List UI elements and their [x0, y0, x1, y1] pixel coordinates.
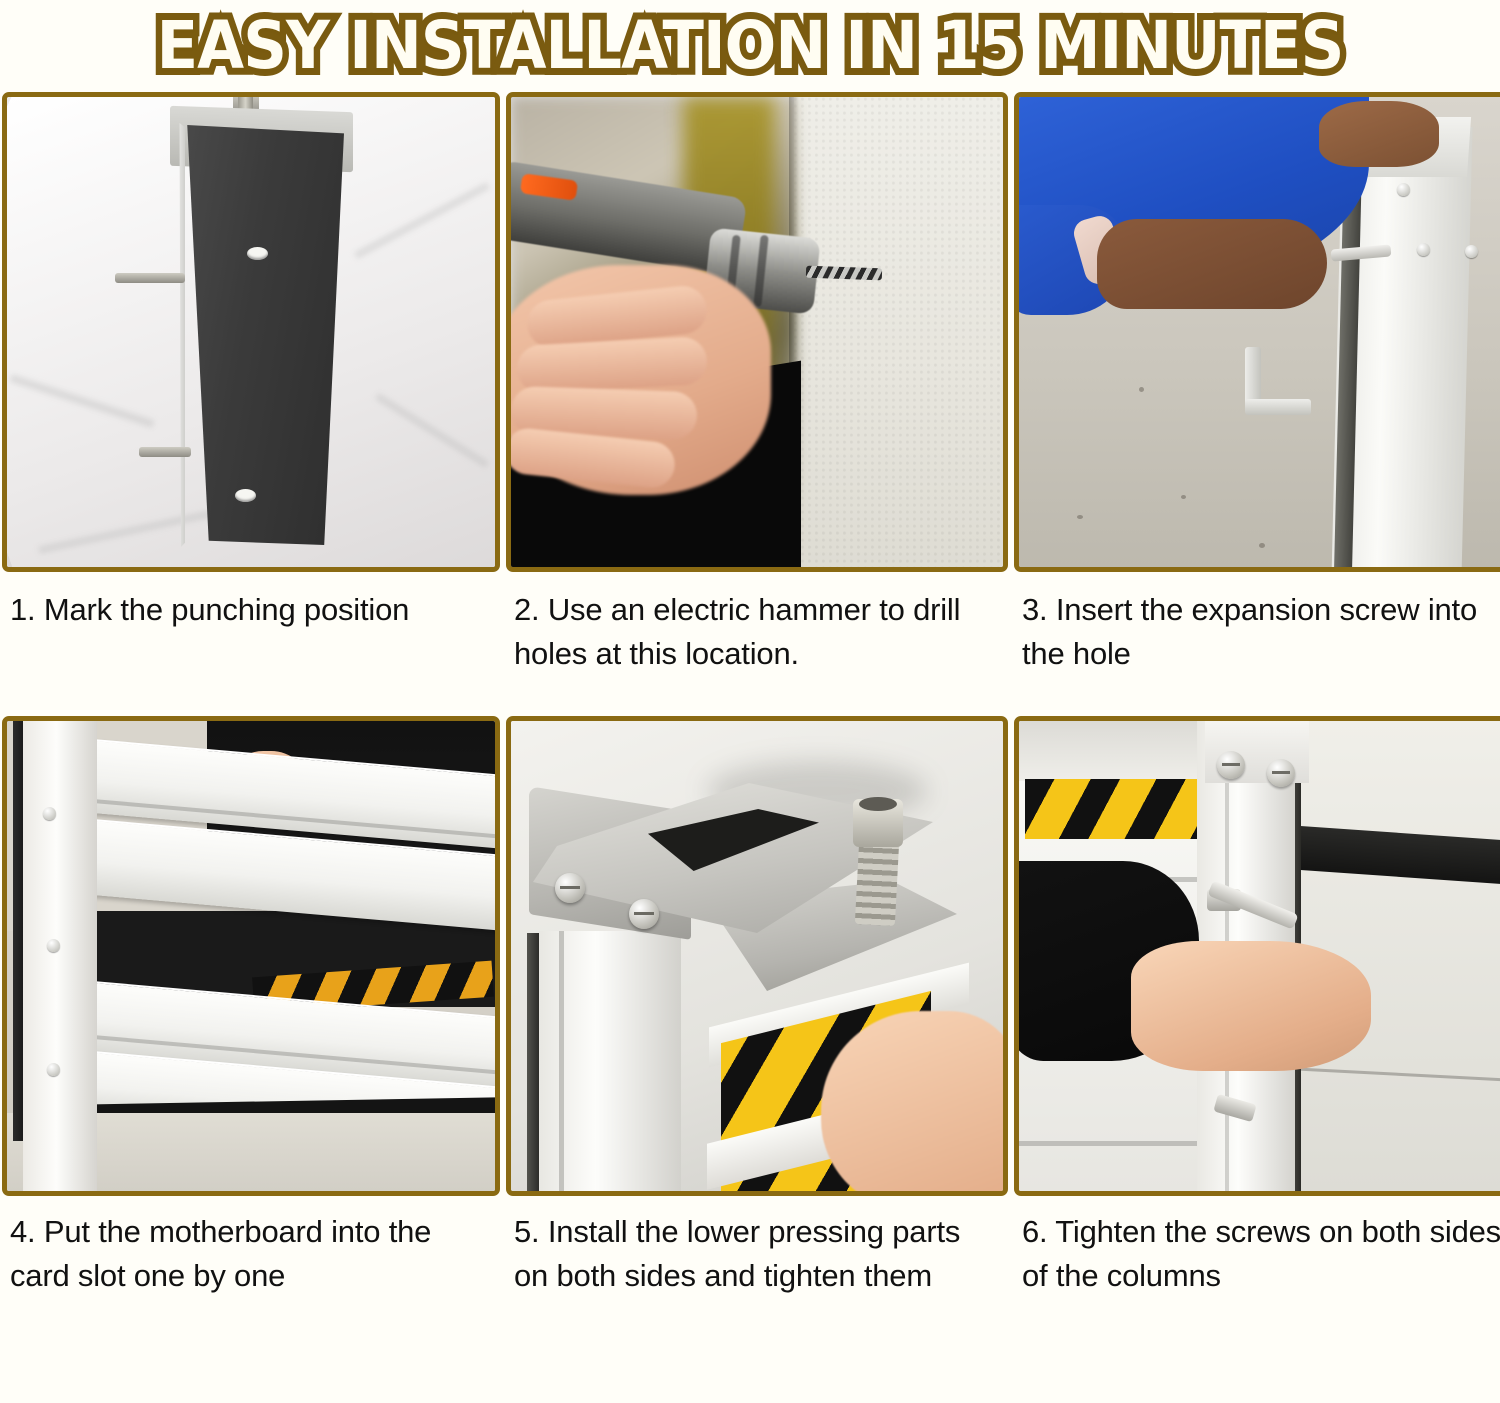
punch-mark-hole-upper [247, 247, 268, 260]
column-dark-edge [527, 933, 539, 1196]
step-5-photo [506, 716, 1008, 1196]
thumb-bolt-socket [859, 797, 897, 811]
white-column [23, 721, 97, 1191]
punch-mark-hole-lower [235, 489, 256, 502]
top-screw-right [1267, 759, 1295, 787]
step-6-photo [1014, 716, 1500, 1196]
step-3-photo [1014, 92, 1500, 572]
step-card-1: 1. Mark the punching position [2, 92, 500, 692]
board-groove [1019, 1141, 1205, 1146]
step-2-photo [506, 92, 1008, 572]
column-screw [1465, 245, 1478, 258]
hazard-stripe-tape [1025, 779, 1203, 839]
worker-forearm [1097, 219, 1327, 309]
step-1-caption: 1. Mark the punching position [2, 572, 500, 692]
step-1-photo [2, 92, 500, 572]
floor-speck [1259, 543, 1265, 548]
column-screw [47, 939, 60, 952]
step-card-5: 5. Install the lower pressing parts on b… [506, 716, 1008, 1314]
hand-tightening-screw [1131, 941, 1371, 1071]
allen-wrench-arm [1245, 399, 1311, 415]
column-groove [559, 931, 564, 1196]
step-2-caption: 2. Use an electric hammer to drill holes… [506, 572, 1008, 692]
floor-speck [1181, 495, 1186, 499]
step-6-caption: 6. Tighten the screws on both sides of t… [1014, 1196, 1500, 1314]
bracket-screw-right [629, 899, 659, 929]
finger [516, 336, 708, 394]
step-card-4: 4. Put the motherboard into the card slo… [2, 716, 500, 1314]
alignment-pin-upper [115, 273, 185, 283]
steps-row-top: 1. Mark the punching position [0, 92, 1500, 692]
column-screw [43, 807, 56, 820]
step-card-3: 3. Insert the expansion screw into the h… [1014, 92, 1500, 692]
step-card-2: 2. Use an electric hammer to drill holes… [506, 92, 1008, 692]
step-4-caption: 4. Put the motherboard into the card slo… [2, 1196, 500, 1314]
worker-upper-hand [1319, 101, 1439, 167]
step-4-photo [2, 716, 500, 1196]
bracket-screw-left [555, 873, 585, 903]
step-card-6: 6. Tighten the screws on both sides of t… [1014, 716, 1500, 1314]
top-screw-left [1217, 751, 1245, 779]
floor-speck [1077, 515, 1083, 519]
floor-speck [1139, 387, 1144, 392]
alignment-pin-lower [139, 447, 191, 457]
thumb-bolt-thread [855, 840, 899, 926]
textured-wall [794, 97, 1003, 567]
column-screw [47, 1063, 60, 1076]
step-5-caption: 5. Install the lower pressing parts on b… [506, 1196, 1008, 1314]
header-banner: EASY INSTALLATION IN 15 MINUTES [0, 0, 1500, 92]
steps-row-bottom: 4. Put the motherboard into the card slo… [0, 716, 1500, 1314]
column-screw [1417, 243, 1430, 256]
installation-guide-page: EASY INSTALLATION IN 15 MINUTES [0, 0, 1500, 1403]
row-divider [0, 692, 1500, 716]
step-3-caption: 3. Insert the expansion screw into the h… [1014, 572, 1500, 692]
page-title: EASY INSTALLATION IN 15 MINUTES [157, 13, 1344, 79]
panel-top-shade [1019, 721, 1209, 781]
column-screw [1397, 183, 1410, 196]
